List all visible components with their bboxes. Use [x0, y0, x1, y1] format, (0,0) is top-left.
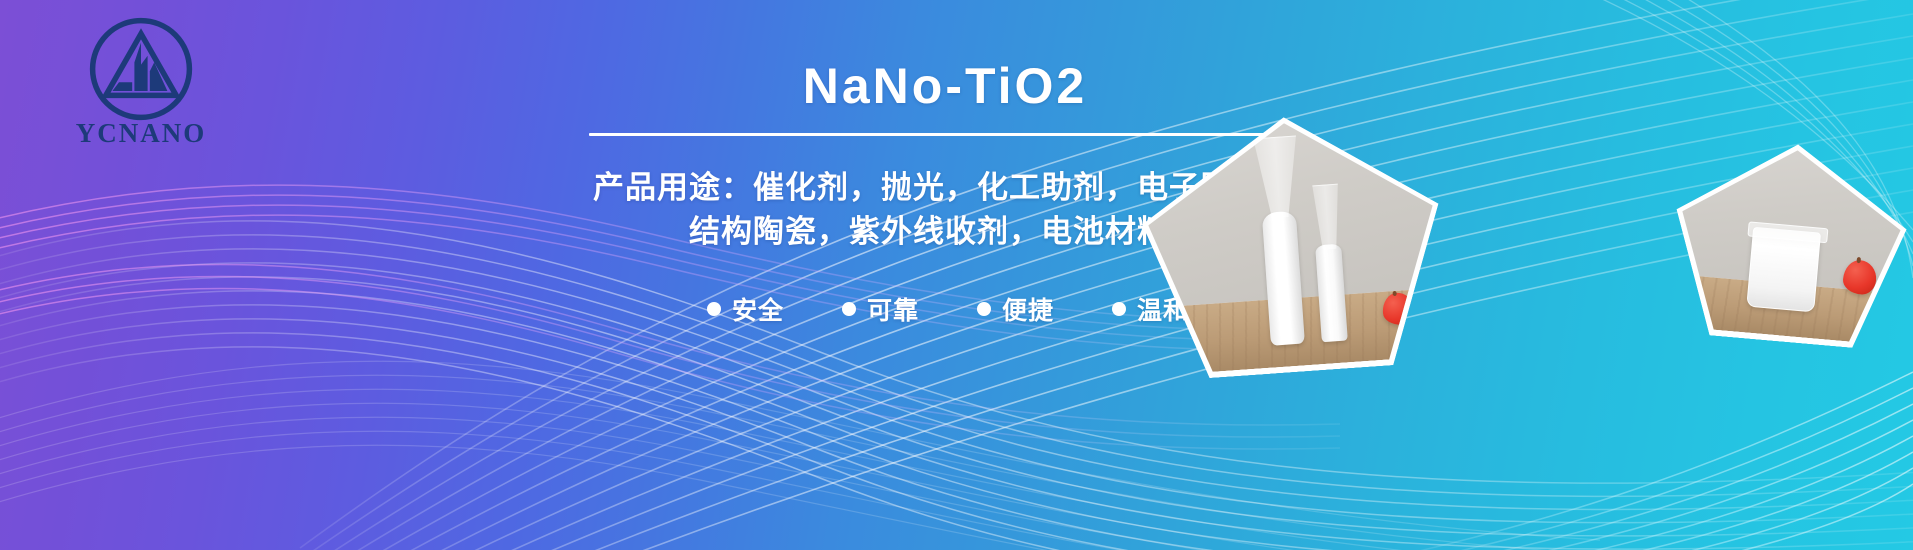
bullet-dot-icon: [977, 302, 991, 316]
beaker-with-white-liquid: [1747, 227, 1821, 313]
product-photo-beaker[interactable]: [1666, 134, 1913, 351]
ycnano-logo[interactable]: YCNANO: [46, 14, 236, 164]
feature-label: 便捷: [1002, 291, 1054, 327]
triangle-mountain-emblem-icon: [86, 14, 196, 124]
feature-label: 可靠: [867, 291, 919, 327]
feature-item-reliable: 可靠: [842, 291, 919, 327]
title-divider: [589, 133, 1301, 136]
feature-label: 安全: [732, 291, 784, 327]
bullet-dot-icon: [842, 302, 856, 316]
promo-banner: YCNANO NaNo-TiO2 产品用途：催化剂，抛光，化工助剂，电子陶瓷， …: [0, 0, 1913, 550]
feature-item-convenient: 便捷: [977, 291, 1054, 327]
logo-wordmark: YCNANO: [46, 120, 236, 147]
bullet-dot-icon: [707, 302, 721, 316]
feature-item-safe: 安全: [707, 291, 784, 327]
bullet-dot-icon: [1112, 302, 1126, 316]
page-title: NaNo-TiO2: [480, 60, 1410, 113]
